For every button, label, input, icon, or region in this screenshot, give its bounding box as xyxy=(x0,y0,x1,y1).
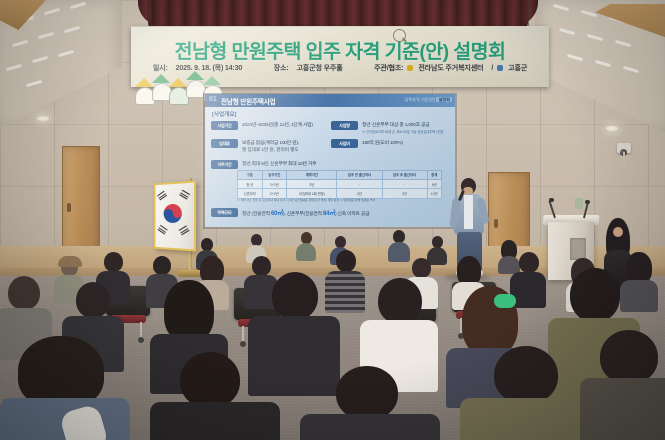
table-cell: 2년 xyxy=(337,189,382,199)
slide-row-chip: 거주기간 xyxy=(211,160,238,169)
slide-row-value: 보증금 없음(계약금 100만 원), xyxy=(242,139,299,146)
ceiling-downlight xyxy=(37,116,49,121)
slide-row-value: 청년 최대 6년, 신혼부부 최대 10년 거주 xyxy=(242,160,316,167)
slide-breadcrumb: 입주자격 기준(안) 설명회 xyxy=(404,97,452,103)
audience-member xyxy=(150,352,280,440)
slide-row-value: 청년 (전용면적 60㎡), 신혼부부(전용면적 84㎡) 신축 아파트 공급 xyxy=(242,208,369,217)
table-cell: 신혼부부 xyxy=(238,189,263,199)
table-cell: - xyxy=(382,179,427,189)
slide-row-chip-right: 사업량 xyxy=(331,121,358,130)
table-cell: 2년 xyxy=(382,189,427,199)
projection-screen: 01 전남형 만원주택사업 입주자격 기준(안) 설명회 [사업개요] 사업기간… xyxy=(205,94,455,227)
table-col-header: 합계 xyxy=(427,171,441,180)
banner-cohost-value: 고흥군 xyxy=(508,64,527,72)
slide-rows: 사업기간 2024년~2035년(총 12년, 1단계 사업) 사업량 청년·신… xyxy=(211,119,449,176)
slide-table: 구분 입주기간 계약기간 입주 전 출산자녀 입주 후 출산자녀 합계 청 년 … xyxy=(237,170,442,199)
slide-row-value: 2024년~2035년(총 12년, 1단계 사업) xyxy=(242,121,313,128)
slide-row: 사업기간 2024년~2035년(총 12년, 1단계 사업) 사업량 청년·신… xyxy=(211,119,449,136)
banner-place-label: 장소: xyxy=(274,64,289,72)
trigram-icon xyxy=(157,225,167,236)
trigram-icon xyxy=(157,191,167,202)
banner-title: 전남형 만원주택 입주 자격 기준(안) 설명회 xyxy=(131,35,549,64)
slide-row-chip: 주택규모 xyxy=(211,208,238,217)
slide-number: 01 xyxy=(209,96,217,103)
slide-breadcrumb-dim: 입주자격 기준(안) xyxy=(404,97,435,102)
slide-row-value-right: 150억 원(도비 100%) xyxy=(362,139,403,146)
banner-subtitle: 일시:2025. 9. 18. (목) 14:30 장소:고흥군청 우주홀 주관… xyxy=(131,63,549,73)
slide-row-chip: 임대료 xyxy=(211,139,238,148)
banner-place-value: 고흥군청 우주홀 xyxy=(296,64,342,72)
table-col-header: 입주기간 xyxy=(262,171,287,180)
value-pre: 청년 (전용면적 xyxy=(242,212,270,217)
table-cell: 6년 xyxy=(427,179,441,189)
table-cell: 2년 xyxy=(287,179,337,189)
audience-member xyxy=(300,366,440,440)
trigram-icon xyxy=(179,225,190,236)
lectern-panel xyxy=(570,238,586,260)
audience-member xyxy=(580,330,665,440)
taeguk-symbol-icon xyxy=(164,204,182,223)
slide-row-chip: 사업기간 xyxy=(211,121,238,130)
slide-row-chip-right: 사업비 xyxy=(331,139,358,148)
table-header-row: 구분 입주기간 계약기간 입주 전 출산자녀 입주 후 출산자녀 합계 xyxy=(238,171,442,180)
goheung-logo-icon xyxy=(497,65,503,71)
slide-row-last: 주택규모 청년 (전용면적 60㎡), 신혼부부(전용면적 84㎡) 신축 아파… xyxy=(211,207,449,221)
slide-row: 임대료 보증금 없음(계약금 100만 원), 월 임대료 1만 원, 관리비 … xyxy=(211,137,449,157)
value-area-newlywed: 84㎡ xyxy=(323,211,335,217)
slide-table-note: ※ 계약 2년, 입주 후 출산자녀 자녀 추가 시 1인 1년 임대료 지원(… xyxy=(237,198,375,202)
attendant-face xyxy=(613,227,623,237)
table-cell: 청 년 xyxy=(238,179,263,189)
slide-section-label: [사업개요] xyxy=(212,110,236,118)
table-col-header: 입주 전 출산자녀 xyxy=(337,171,382,180)
banner-wire xyxy=(528,0,529,28)
value-mid: ), 신혼부부(전용면적 xyxy=(283,212,322,217)
banner-date-value: 2025. 9. 18. (목) 14:30 xyxy=(176,64,242,72)
korean-national-flag xyxy=(154,180,196,251)
slide-title: 전남형 만원주택사업 xyxy=(221,96,275,106)
wall-sign xyxy=(575,198,583,209)
table-cell: 2년(최대 1회 연장) xyxy=(287,189,337,199)
audience-member xyxy=(0,336,130,440)
table-col-header: 입주 후 출산자녀 xyxy=(382,171,427,180)
stage-curtain-valance xyxy=(138,0,538,26)
value-post: ) 신축 아파트 공급 xyxy=(335,212,369,217)
audience-member xyxy=(296,232,316,260)
banner-date-label: 일시: xyxy=(153,64,168,72)
lectern-mic-head xyxy=(585,200,590,204)
table-row: 신혼부부 2+2년 2년(최대 1회 연장) 2년 2년 10년 xyxy=(238,189,442,199)
table-cell: 2+2년 xyxy=(262,179,287,189)
hair-bow-icon xyxy=(494,294,516,308)
slide-row-value-right: 청년·신혼부부 대상 총 1,000호 공급 xyxy=(362,121,430,128)
slide-breadcrumb-highlight: 설명회 xyxy=(436,97,452,102)
slide-header-bar xyxy=(205,94,455,107)
camera-mount xyxy=(623,152,625,166)
event-photo-scene: 전남형 만원주택 입주 자격 기준(안) 설명회 일시:2025. 9. 18.… xyxy=(0,0,665,440)
table-cell: 10년 xyxy=(427,189,441,199)
slide-row: 거주기간 청년 최대 6년, 신혼부부 최대 10년 거주 xyxy=(211,158,449,175)
presenter-shirt xyxy=(464,195,473,229)
slide-row-value2: 월 임대료 1만 원, 관리비 별도 xyxy=(242,147,299,153)
trigram-icon xyxy=(179,190,190,201)
audience-member xyxy=(460,346,600,440)
table-row: 청 년 2+2년 2년 - - 6년 xyxy=(238,179,442,189)
ceiling-downlight xyxy=(606,126,618,131)
jeonnam-logo-icon xyxy=(407,65,413,71)
table-cell: 2+2년 xyxy=(262,189,287,199)
lectern-mic-head xyxy=(549,198,554,202)
banner-host-label: 주관/협조: xyxy=(374,64,403,72)
event-banner: 전남형 만원주택 입주 자격 기준(안) 설명회 일시:2025. 9. 18.… xyxy=(131,26,549,87)
slide-row-note: ※ 인구감소지역 16개 군, 최소 50호 이상 공공임대주택 1천호 xyxy=(362,129,444,134)
banner-wire xyxy=(150,0,151,28)
table-col-header: 계약기간 xyxy=(287,171,337,180)
table-col-header: 구분 xyxy=(238,171,263,180)
audience-member xyxy=(388,230,410,260)
table-cell: - xyxy=(337,179,382,189)
banner-host-value: 전라남도 주거복지센터 xyxy=(418,64,483,72)
cap-icon xyxy=(58,256,82,267)
value-area-youth: 60㎡ xyxy=(271,211,283,217)
